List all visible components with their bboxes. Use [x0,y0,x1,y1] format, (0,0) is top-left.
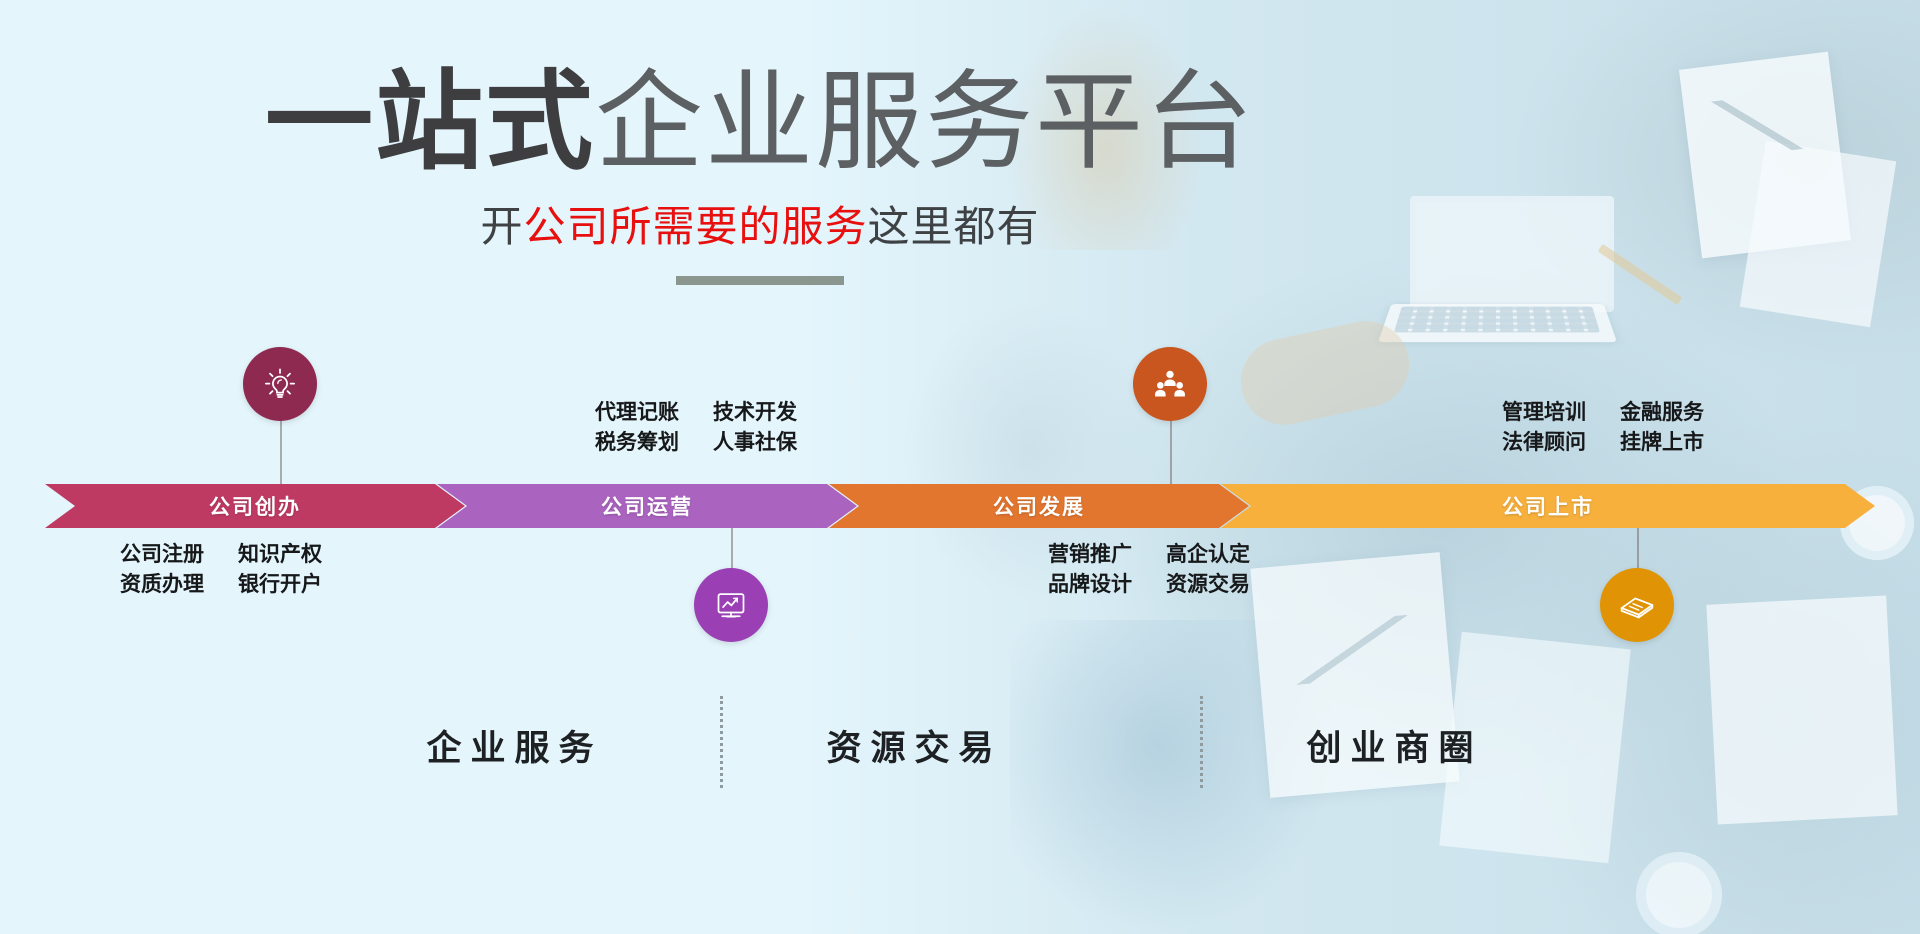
timeline-segment-4[interactable]: 公司上市 [1221,484,1875,528]
tag-text: 管理培训 [1502,398,1586,428]
category-divider [1200,696,1203,788]
background-pencil [1598,244,1683,305]
category-startup-circle[interactable]: 创业商圈 [1210,720,1570,771]
page-subtitle-prefix: 开 [480,203,523,250]
stage-3-badge[interactable] [1133,347,1207,421]
category-resource-trade[interactable]: 资源交易 [730,720,1090,771]
background-paper [1740,141,1897,328]
stage-1-tags: 公司注册 资质办理 知识产权 银行开户 [120,540,322,600]
tag-text: 代理记账 [595,398,679,428]
stage-1-tag-col-1: 公司注册 资质办理 [120,540,204,600]
timeline-segment-1[interactable]: 公司创办 [45,484,465,528]
timeline-segment-4-label: 公司上市 [1502,491,1594,521]
stage-3-tag-col-2: 高企认定 资源交易 [1166,540,1250,600]
page-subtitle-accent: 公司所需要的服务 [523,203,867,250]
tag-text: 品牌设计 [1048,570,1132,600]
background-coffee-cup [1636,852,1722,934]
tag-text: 公司注册 [120,540,204,570]
stage-3-tags: 营销推广 品牌设计 高企认定 资源交易 [1048,540,1250,600]
tag-text: 高企认定 [1166,540,1250,570]
stage-3-tag-col-1: 营销推广 品牌设计 [1048,540,1132,600]
page-title-light: 企业服务平台 [595,61,1255,182]
stage-4-tag-col-2: 金融服务 挂牌上市 [1620,398,1704,458]
category-row: 企业服务 资源交易 创业商圈 [330,720,1590,830]
stage-4-badge[interactable] [1600,568,1674,642]
infographic-canvas: 一站式企业服务平台 开公司所需要的服务这里都有 公司创办 公司运营 公司发展 公… [0,0,1920,934]
tag-text: 人事社保 [713,428,797,458]
page-subtitle-suffix: 这里都有 [868,203,1040,250]
timeline-segment-1-label: 公司创办 [209,491,301,521]
timeline-segment-2[interactable]: 公司运营 [437,484,857,528]
stage-2-tag-col-2: 技术开发 人事社保 [713,398,797,458]
lightbulb-icon [260,364,300,404]
monitor-chart-icon [711,585,751,625]
header: 一站式企业服务平台 开公司所需要的服务这里都有 [0,58,1520,285]
tag-text: 营销推广 [1048,540,1132,570]
stage-2-tag-col-1: 代理记账 税务筹划 [595,398,679,458]
background-paper [1706,595,1897,824]
timeline-arrow-band: 公司创办 公司运营 公司发展 公司上市 [45,484,1875,528]
tag-text: 资质办理 [120,570,204,600]
tag-text: 技术开发 [713,398,797,428]
page-title: 一站式企业服务平台 [0,58,1520,185]
tag-text: 资源交易 [1166,570,1250,600]
tag-text: 税务筹划 [595,428,679,458]
background-laptop-keys [1394,307,1600,333]
money-stack-icon [1616,584,1658,626]
stage-1-badge[interactable] [243,347,317,421]
people-group-icon [1150,364,1190,404]
tag-text: 法律顾问 [1502,428,1586,458]
page-title-strong: 一站式 [265,61,595,182]
page-subtitle: 开公司所需要的服务这里都有 [0,193,1520,254]
category-enterprise-service[interactable]: 企业服务 [330,720,690,771]
stage-2-badge[interactable] [694,568,768,642]
stage-1-tag-col-2: 知识产权 银行开户 [238,540,322,600]
stage-4-tags: 管理培训 法律顾问 金融服务 挂牌上市 [1502,398,1704,458]
background-paper [1679,52,1851,259]
background-laptop-base [1378,304,1617,342]
timeline-segment-3-label: 公司发展 [993,491,1085,521]
tag-text: 金融服务 [1620,398,1704,428]
background-chart-sketch [1697,89,1821,161]
tag-text: 银行开户 [238,570,322,600]
background-arm-shape [1233,313,1417,432]
timeline-segment-3[interactable]: 公司发展 [829,484,1249,528]
stage-4-tag-col-1: 管理培训 法律顾问 [1502,398,1586,458]
tag-text: 挂牌上市 [1620,428,1704,458]
stage-2-tags: 代理记账 税务筹划 技术开发 人事社保 [595,398,797,458]
title-divider-rule [676,276,844,285]
tag-text: 知识产权 [238,540,322,570]
background-chart-sketch [1288,615,1413,685]
timeline-segment-2-label: 公司运营 [601,491,693,521]
category-divider [720,696,723,788]
